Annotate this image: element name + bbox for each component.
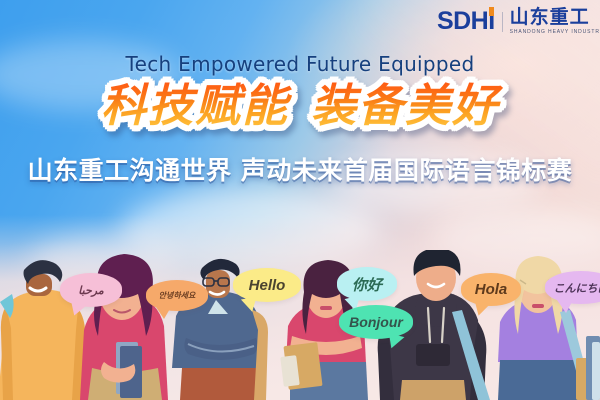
english-tagline: Tech Empowered Future Equipped [0, 52, 600, 76]
bubble-tail-icon [472, 300, 491, 317]
speech-bubble-english: Hello [233, 268, 301, 302]
speech-bubble-text: Hello [249, 277, 286, 294]
speech-bubble-french: Bonjour [339, 305, 413, 339]
speech-bubble-text: مرحبا [78, 284, 103, 297]
logo-wordmark: SDHI [437, 9, 495, 34]
person-7 [586, 336, 600, 400]
speech-bubble-text: こんにちは [554, 280, 600, 296]
speech-bubble-text: Hola [475, 281, 508, 298]
chinese-main-title-left: 科技赋能 [101, 79, 289, 132]
chinese-main-title-right: 装备美好 [311, 79, 499, 132]
bubble-tail-icon [241, 297, 259, 314]
speech-bubble-spanish: Hola [461, 273, 521, 306]
sdhi-logo: SDHI 山东重工 SHANDONG HEAVY INDUSTRY [437, 8, 600, 35]
logo-dot-icon [489, 7, 494, 16]
chinese-subtitle: 山东重工沟通世界 声动未来首届国际语言锦标赛 [0, 151, 600, 187]
logo-chinese-block: 山东重工 SHANDONG HEAVY INDUSTRY [510, 8, 600, 35]
logo-wordmark-text: SDHI [437, 7, 495, 35]
logo-divider [502, 12, 503, 32]
speech-bubble-text: Bonjour [349, 314, 403, 330]
bubble-tail-icon [557, 300, 573, 313]
speech-bubble-text: 안녕하세요 [159, 290, 196, 301]
speech-bubble-text: 你好 [352, 274, 382, 295]
poster-banner: SDHI 山东重工 SHANDONG HEAVY INDUSTRY Tech E… [0, 0, 600, 400]
chinese-main-title: 科技赋能装备美好 [0, 82, 600, 131]
logo-chinese-pinyin: SHANDONG HEAVY INDUSTRY [510, 30, 600, 35]
logo-chinese-name: 山东重工 [510, 8, 600, 27]
headline-block: Tech Empowered Future Equipped 科技赋能装备美好 … [0, 52, 600, 187]
speech-bubble-chinese: 你好 [337, 267, 397, 301]
speech-bubble-korean: 안녕하세요 [146, 280, 208, 311]
speech-bubble-arabic: مرحبا [60, 273, 122, 307]
bubble-tail-icon [156, 307, 171, 319]
